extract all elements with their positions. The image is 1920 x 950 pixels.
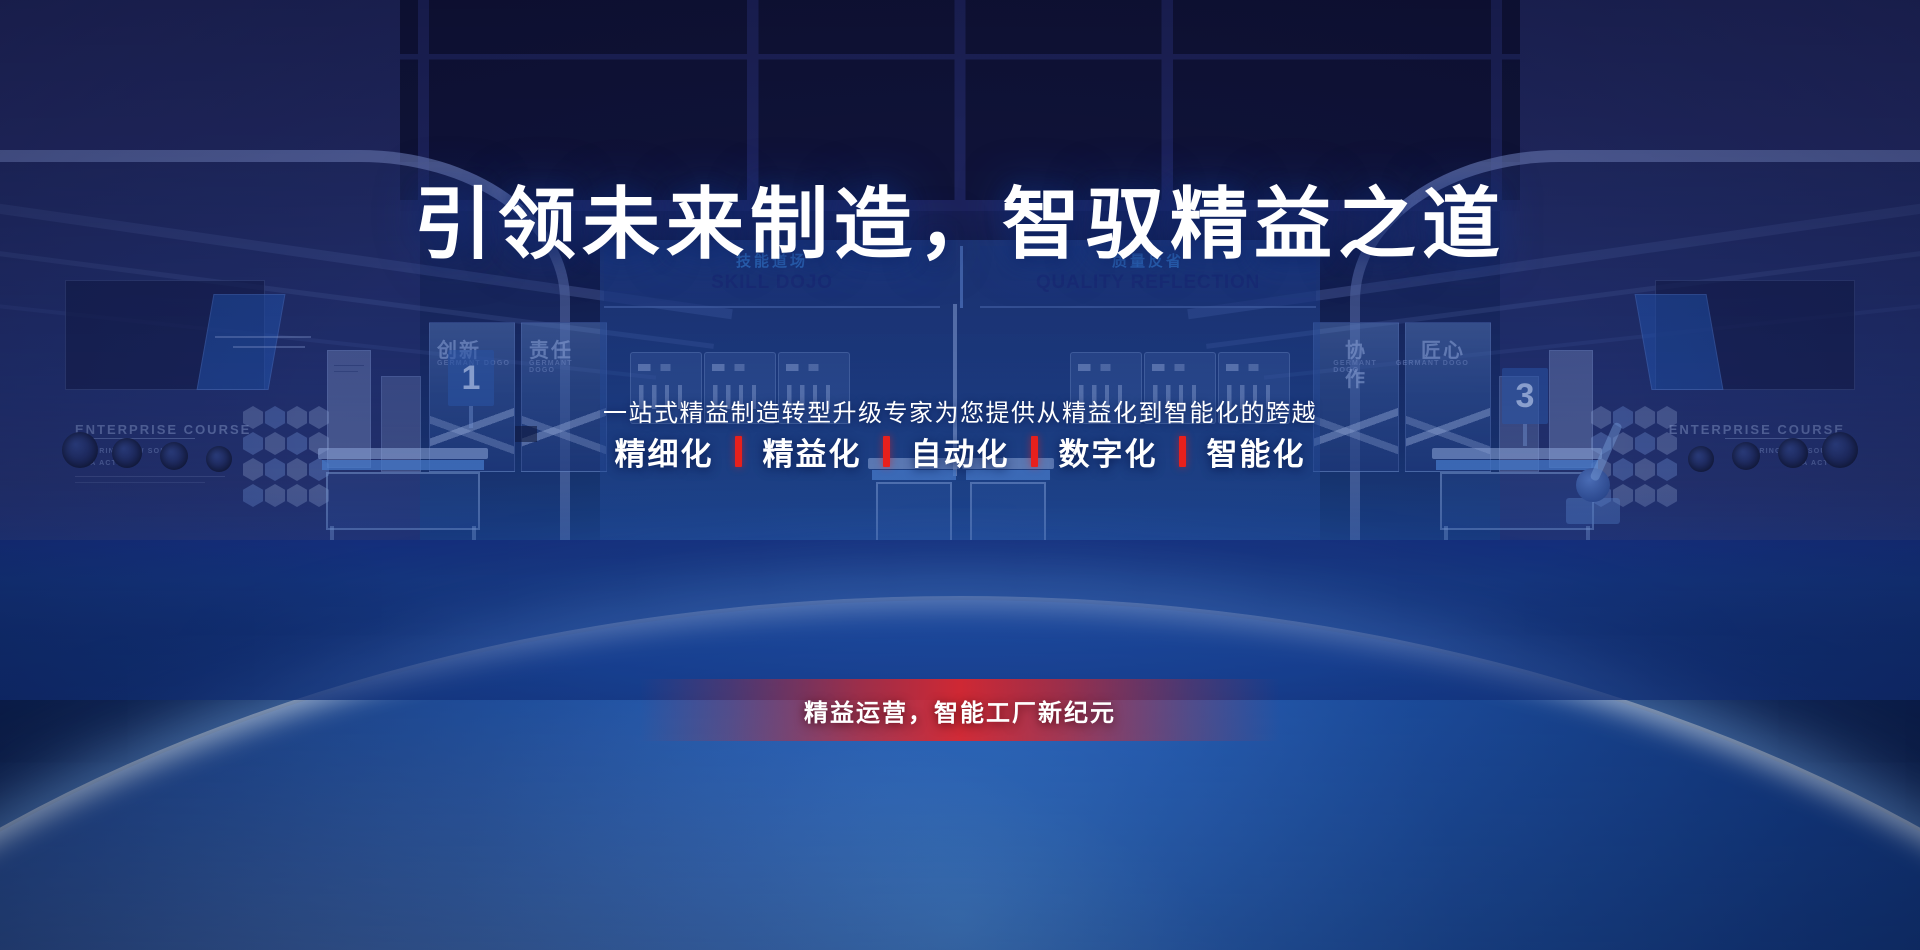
banner-subtitle: 一站式精益制造转型升级专家为您提供从精益化到智能化的跨越 [0,393,1920,428]
keyword-item-5: 智能化 [1186,429,1327,474]
keyword-item-4: 数字化 [1038,429,1179,474]
tagline-ribbon: 精益运营，智能工厂新纪元 [640,679,1280,741]
keyword-item-1: 精细化 [594,429,735,474]
tagline-text: 精益运营，智能工厂新纪元 [804,693,1116,728]
hero-banner: ENTERPRISE COURSE INSPIRING NEW SOURCE I… [0,0,1920,950]
keyword-separator-icon [735,436,742,467]
keyword-item-3: 自动化 [890,429,1031,474]
banner-content: 引领未来制造，智驭精益之道 一站式精益制造转型升级专家为您提供从精益化到智能化的… [0,0,1920,950]
keyword-separator-icon [883,436,890,467]
keyword-separator-icon [1031,436,1038,467]
page-title: 引领未来制造，智驭精益之道 [0,185,1920,263]
keyword-separator-icon [1179,436,1186,467]
keyword-item-2: 精益化 [742,429,883,474]
keyword-list: 精细化 精益化 自动化 数字化 智能化 [0,429,1920,474]
